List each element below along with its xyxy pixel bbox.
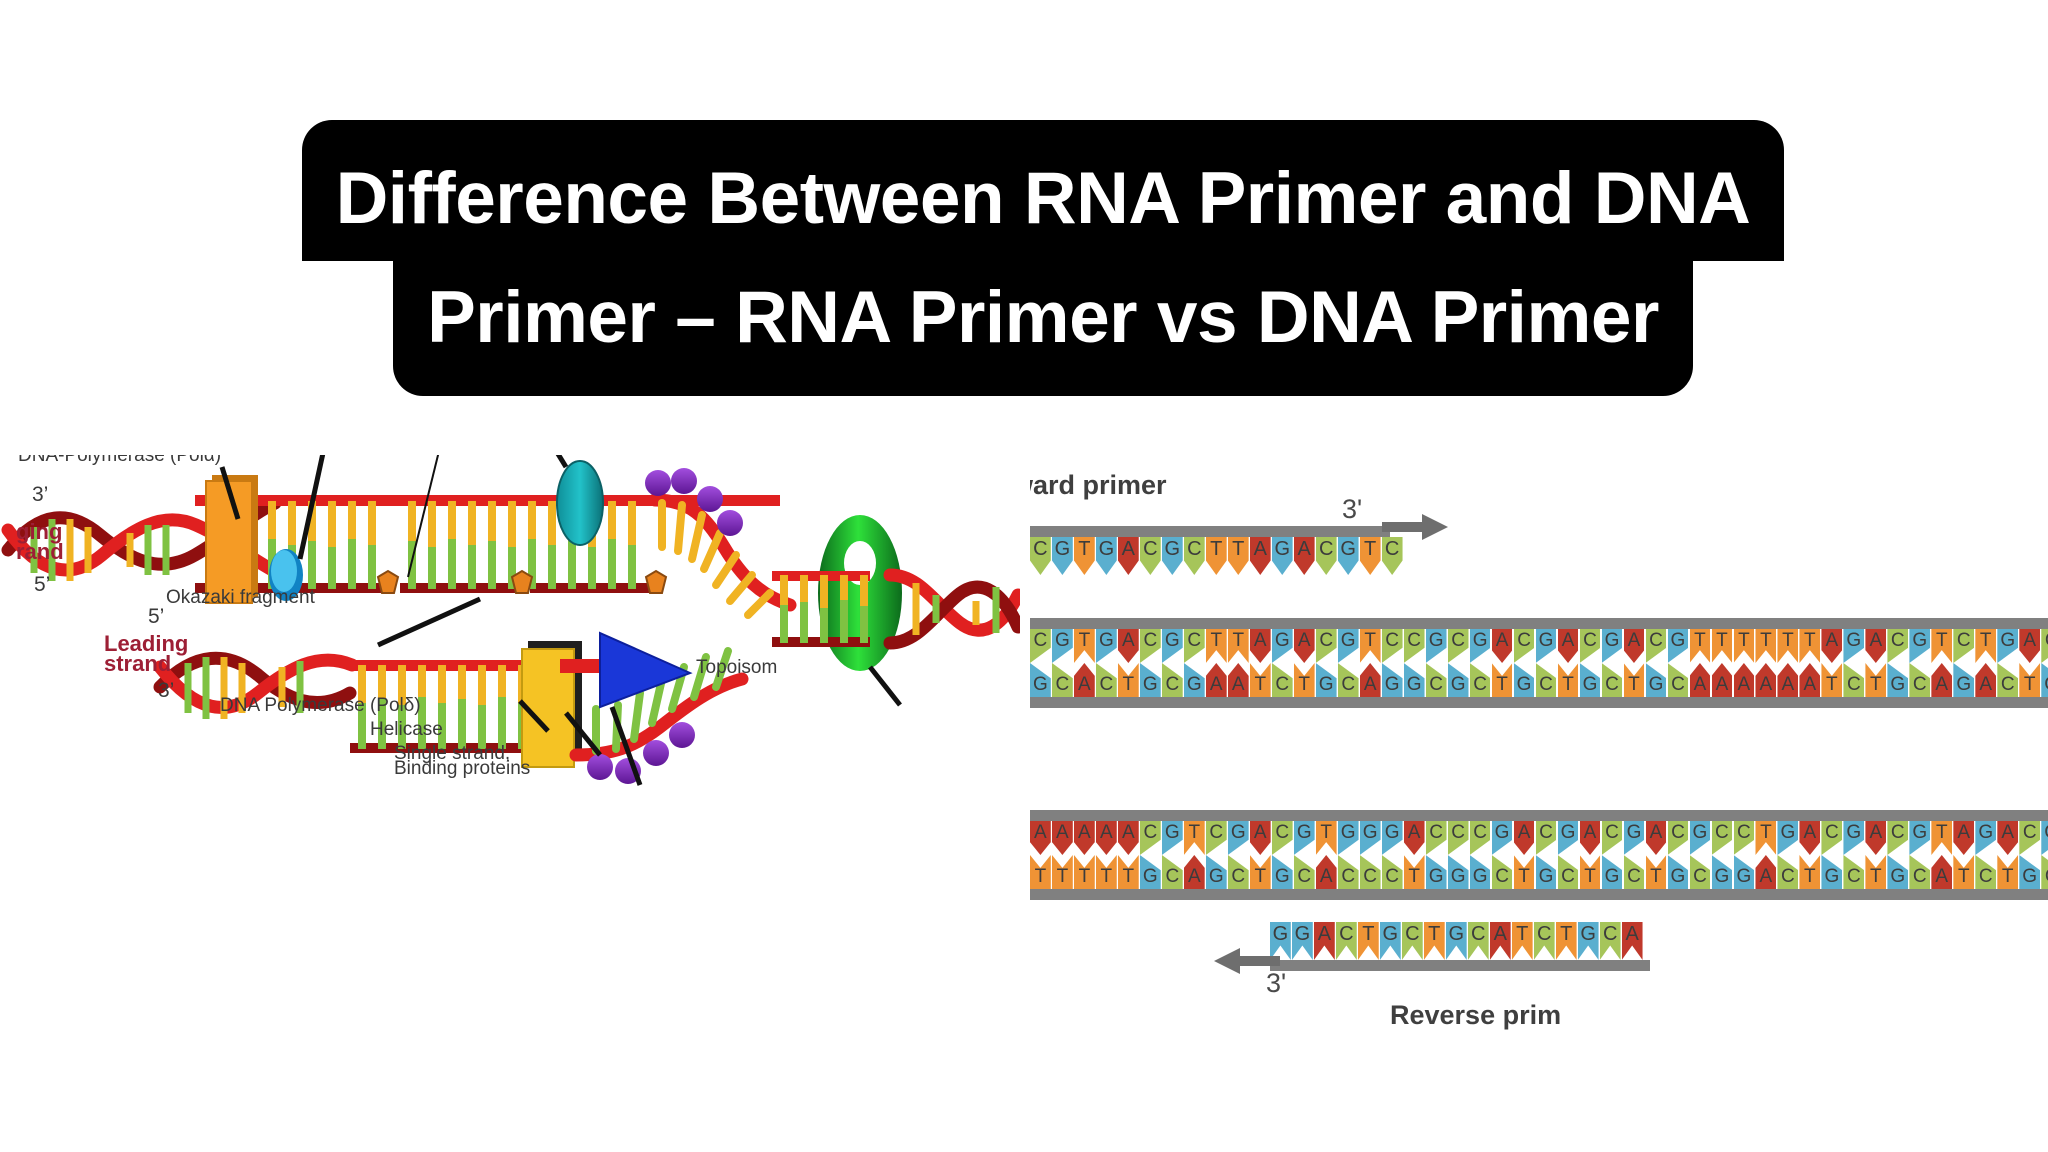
base-c: C xyxy=(1272,663,1293,697)
base-g: G xyxy=(1536,629,1557,663)
base-c: C xyxy=(1536,821,1557,855)
base-g: G xyxy=(1624,821,1645,855)
base-a: A xyxy=(1777,663,1798,697)
base-c: C xyxy=(1975,855,1996,889)
base-c: C xyxy=(1470,663,1491,697)
base-t: T xyxy=(1690,629,1711,663)
base-c: C xyxy=(2019,821,2040,855)
base-c: C xyxy=(1580,629,1601,663)
base-t: T xyxy=(1821,663,1842,697)
base-c: C xyxy=(1843,663,1864,697)
base-g: G xyxy=(1492,821,1513,855)
base-c: C xyxy=(1030,537,1051,575)
base-c: C xyxy=(1360,855,1381,889)
base-g: G xyxy=(1514,663,1535,697)
base-g: G xyxy=(1272,629,1293,663)
base-g: G xyxy=(1294,821,1315,855)
base-g: G xyxy=(1162,537,1183,575)
base-t: T xyxy=(1184,821,1205,855)
pcr-primer-panel: ward primer CGTGACGCTTAGACGTC 3' CGTGACG… xyxy=(1030,470,2048,1050)
base-a: A xyxy=(1865,821,1886,855)
base-c: C xyxy=(1843,855,1864,889)
template-duplex-1: CGTGACGCTTAGACGTCCGCGACGACGACGTTTTTTAGAC… xyxy=(1030,618,2048,708)
base-c: C xyxy=(1052,663,1073,697)
base-g: G xyxy=(1668,629,1689,663)
base-a: A xyxy=(1074,663,1095,697)
base-t: T xyxy=(1074,855,1095,889)
base-c: C xyxy=(1140,629,1161,663)
base-c: C xyxy=(1668,663,1689,697)
base-g: G xyxy=(1338,629,1359,663)
dna-replication-fork-figure: DNA-Polymerase (Polα) DNA-ligase RNA pri… xyxy=(0,455,1020,1045)
base-g: G xyxy=(1316,663,1337,697)
base-a: A xyxy=(1052,821,1073,855)
base-a: A xyxy=(1206,663,1227,697)
base-g: G xyxy=(1162,821,1183,855)
base-a: A xyxy=(1755,663,1776,697)
duplex-1-top-backbone xyxy=(1030,618,2048,629)
base-t: T xyxy=(1492,663,1513,697)
base-g: G xyxy=(1184,663,1205,697)
base-c: C xyxy=(1338,855,1359,889)
base-t: T xyxy=(1953,855,1974,889)
base-a: A xyxy=(1558,629,1579,663)
base-c: C xyxy=(1492,855,1513,889)
base-a: A xyxy=(1184,855,1205,889)
base-a: A xyxy=(1250,537,1271,575)
base-g: G xyxy=(1777,821,1798,855)
base-g: G xyxy=(1602,855,1623,889)
base-g: G xyxy=(1162,629,1183,663)
base-g: G xyxy=(1470,855,1491,889)
base-t: T xyxy=(2019,663,2040,697)
base-g: G xyxy=(1646,663,1667,697)
base-t: T xyxy=(1514,855,1535,889)
base-g: G xyxy=(1096,629,1117,663)
base-a: A xyxy=(1314,922,1335,960)
base-g: G xyxy=(1426,629,1447,663)
base-t: T xyxy=(1558,663,1579,697)
base-a: A xyxy=(1118,537,1139,575)
base-g: G xyxy=(1580,663,1601,697)
forward-primer-strand: CGTGACGCTTAGACGTC xyxy=(1030,526,1390,575)
base-g: G xyxy=(1446,922,1467,960)
base-t: T xyxy=(1118,663,1139,697)
base-g: G xyxy=(1426,855,1447,889)
base-t: T xyxy=(1052,855,1073,889)
base-t: T xyxy=(1424,922,1445,960)
base-g: G xyxy=(1360,821,1381,855)
base-a: A xyxy=(1931,855,1952,889)
base-t: T xyxy=(1646,855,1667,889)
label-dna-polymerase-delta: DNA Polymerase (Polδ) xyxy=(220,695,421,716)
base-g: G xyxy=(1558,821,1579,855)
base-t: T xyxy=(1228,629,1249,663)
base-t: T xyxy=(1206,537,1227,575)
page-title-line-2: Primer – RNA Primer vs DNA Primer xyxy=(393,259,1693,396)
base-c: C xyxy=(1909,855,1930,889)
base-t: T xyxy=(1316,821,1337,855)
forward-primer-3prime-label: 3' xyxy=(1342,494,1362,525)
base-g: G xyxy=(1470,629,1491,663)
base-a: A xyxy=(1646,821,1667,855)
base-c: C xyxy=(1646,629,1667,663)
base-a: A xyxy=(2019,629,2040,663)
base-c: C xyxy=(1184,629,1205,663)
base-t: T xyxy=(1512,922,1533,960)
base-t: T xyxy=(1755,821,1776,855)
base-c: C xyxy=(1162,855,1183,889)
base-c: C xyxy=(1272,821,1293,855)
base-a: A xyxy=(1250,821,1271,855)
base-a: A xyxy=(1799,821,1820,855)
base-c: C xyxy=(1316,629,1337,663)
base-g: G xyxy=(1712,855,1733,889)
base-t: T xyxy=(1799,855,1820,889)
base-c: C xyxy=(1777,855,1798,889)
base-g: G xyxy=(1272,855,1293,889)
base-t: T xyxy=(1755,629,1776,663)
base-a: A xyxy=(1712,663,1733,697)
base-g: G xyxy=(1536,855,1557,889)
label-prime-5-bottom: 5’ xyxy=(148,605,164,628)
base-c: C xyxy=(1470,821,1491,855)
base-t: T xyxy=(1030,855,1051,889)
base-g: G xyxy=(1272,537,1293,575)
base-c: C xyxy=(1909,663,1930,697)
base-c: C xyxy=(1448,821,1469,855)
base-c: C xyxy=(1336,922,1357,960)
base-g: G xyxy=(1843,821,1864,855)
base-g: G xyxy=(1909,821,1930,855)
base-c: C xyxy=(1206,821,1227,855)
base-t: T xyxy=(1360,537,1381,575)
replication-fork-upper xyxy=(645,468,790,615)
duplex-2-top-bases: AAAAACGTCGACGTGGGACCCGACGACGACGCCTGACGAC… xyxy=(1030,821,2048,855)
base-c: C xyxy=(2041,629,2048,663)
base-c: C xyxy=(1887,821,1908,855)
base-t: T xyxy=(1096,855,1117,889)
page-title-line-1: Difference Between RNA Primer and DNA xyxy=(302,120,1785,261)
base-c: C xyxy=(1600,922,1621,960)
base-g: G xyxy=(2041,821,2048,855)
reverse-direction-arrow xyxy=(1214,948,1284,974)
base-c: C xyxy=(1821,821,1842,855)
template-duplex-2: AAAAACGTCGACGTGGGACCCGACGACGACGCCTGACGAC… xyxy=(1030,810,2048,900)
base-c: C xyxy=(1426,663,1447,697)
base-c: C xyxy=(1624,855,1645,889)
base-t: T xyxy=(1931,821,1952,855)
base-g: G xyxy=(2019,855,2040,889)
reverse-primer-bases: GGACTGCTGCATCTGCA xyxy=(1270,922,1650,960)
base-a: A xyxy=(1492,629,1513,663)
base-g: G xyxy=(1448,663,1469,697)
label-ssb-line2: Binding proteins xyxy=(394,758,530,779)
base-a: A xyxy=(1228,663,1249,697)
base-t: T xyxy=(1580,855,1601,889)
base-c: C xyxy=(1690,855,1711,889)
reverse-primer-title: Reverse prim xyxy=(1390,1000,1561,1031)
base-g: G xyxy=(1953,663,1974,697)
base-t: T xyxy=(1404,855,1425,889)
base-g: G xyxy=(1578,922,1599,960)
base-a: A xyxy=(1953,821,1974,855)
base-g: G xyxy=(1690,821,1711,855)
base-a: A xyxy=(1250,629,1271,663)
base-g: G xyxy=(1338,821,1359,855)
base-a: A xyxy=(1074,821,1095,855)
base-g: G xyxy=(1909,629,1930,663)
base-t: T xyxy=(1118,855,1139,889)
base-c: C xyxy=(1668,821,1689,855)
base-t: T xyxy=(1777,629,1798,663)
base-c: C xyxy=(1448,629,1469,663)
base-c: C xyxy=(1096,663,1117,697)
base-c: C xyxy=(1997,663,2018,697)
reverse-primer-strand: GGACTGCTGCATCTGCA xyxy=(1270,922,1650,971)
label-lagging-strand-line2: rand xyxy=(16,539,64,564)
base-a: A xyxy=(1580,821,1601,855)
forward-primer-bases: CGTGACGCTTAGACGTC xyxy=(1030,537,1390,575)
base-g: G xyxy=(1821,855,1842,889)
duplex-2-bottom-backbone xyxy=(1030,889,2048,900)
base-c: C xyxy=(1734,821,1755,855)
base-g: G xyxy=(1668,855,1689,889)
label-prime-3-top: 3’ xyxy=(32,483,48,506)
label-okazaki-fragment: Okazaki fragment xyxy=(166,587,316,608)
base-a: A xyxy=(1931,663,1952,697)
base-c: C xyxy=(1162,663,1183,697)
base-t: T xyxy=(1074,629,1095,663)
base-t: T xyxy=(1799,629,1820,663)
duplex-1-top-bases: CGTGACGCTTAGACGTCCGCGACGACGACGTTTTTTAGAC… xyxy=(1030,629,2048,663)
base-t: T xyxy=(1712,629,1733,663)
base-c: C xyxy=(1534,922,1555,960)
base-g: G xyxy=(1338,537,1359,575)
duplex-2-top-backbone xyxy=(1030,810,2048,821)
base-c: C xyxy=(1338,663,1359,697)
base-a: A xyxy=(1294,629,1315,663)
base-a: A xyxy=(1316,855,1337,889)
base-t: T xyxy=(1865,855,1886,889)
base-t: T xyxy=(1228,537,1249,575)
base-g: G xyxy=(1030,663,1051,697)
base-c: C xyxy=(1382,629,1403,663)
page-title-banner: Difference Between RNA Primer and DNA Pr… xyxy=(148,120,1938,396)
base-c: C xyxy=(2041,855,2048,889)
base-t: T xyxy=(1360,629,1381,663)
base-c: C xyxy=(1712,821,1733,855)
duplex-1-bottom-backbone xyxy=(1030,697,2048,708)
base-a: A xyxy=(1622,922,1643,960)
base-a: A xyxy=(1690,663,1711,697)
base-g: G xyxy=(1404,663,1425,697)
base-g: G xyxy=(1975,821,1996,855)
base-a: A xyxy=(1514,821,1535,855)
base-c: C xyxy=(1140,821,1161,855)
base-a: A xyxy=(1734,663,1755,697)
base-t: T xyxy=(1250,663,1271,697)
forward-primer-backbone xyxy=(1030,526,1390,537)
base-g: G xyxy=(1382,663,1403,697)
base-c: C xyxy=(1404,629,1425,663)
base-t: T xyxy=(1358,922,1379,960)
base-a: A xyxy=(1755,855,1776,889)
base-a: A xyxy=(1118,821,1139,855)
base-c: C xyxy=(1536,663,1557,697)
base-a: A xyxy=(1865,629,1886,663)
base-g: G xyxy=(1052,537,1073,575)
base-t: T xyxy=(1624,663,1645,697)
forward-primer-title: ward primer xyxy=(1030,470,1167,501)
base-c: C xyxy=(1468,922,1489,960)
base-g: G xyxy=(1292,922,1313,960)
duplex-1-bottom-bases: GCACTGCGAATCTGCAGGCGCTGCTGCTGCAAAAAATCTG… xyxy=(1030,663,2048,697)
base-c: C xyxy=(1228,855,1249,889)
base-c: C xyxy=(1426,821,1447,855)
base-g: G xyxy=(1843,629,1864,663)
base-a: A xyxy=(1997,821,2018,855)
base-c: C xyxy=(1402,922,1423,960)
duplex-2-bottom-bases: TTTTTGCAGCTGCACCCTGGGCTGCTGCTGCGGACTGCTG… xyxy=(1030,855,2048,889)
reverse-primer-backbone xyxy=(1270,960,1650,971)
label-prime-5-top: 5’ xyxy=(34,573,50,596)
base-g: G xyxy=(1096,537,1117,575)
base-t: T xyxy=(1865,663,1886,697)
base-t: T xyxy=(1997,855,2018,889)
base-t: T xyxy=(1206,629,1227,663)
base-a: A xyxy=(1360,663,1381,697)
base-g: G xyxy=(1997,629,2018,663)
base-t: T xyxy=(1556,922,1577,960)
base-g: G xyxy=(1734,855,1755,889)
base-g: G xyxy=(1228,821,1249,855)
base-a: A xyxy=(1490,922,1511,960)
base-c: C xyxy=(1382,537,1403,575)
base-g: G xyxy=(1887,663,1908,697)
base-g: G xyxy=(1887,855,1908,889)
base-c: C xyxy=(1602,663,1623,697)
base-g: G xyxy=(1602,629,1623,663)
base-t: T xyxy=(1931,629,1952,663)
base-t: T xyxy=(1734,629,1755,663)
base-a: A xyxy=(1799,663,1820,697)
base-g: G xyxy=(1382,821,1403,855)
base-a: A xyxy=(1624,629,1645,663)
base-g: G xyxy=(1140,855,1161,889)
base-c: C xyxy=(1030,629,1051,663)
base-a: A xyxy=(1975,663,1996,697)
base-c: C xyxy=(1514,629,1535,663)
base-a: A xyxy=(1096,821,1117,855)
base-c: C xyxy=(1558,855,1579,889)
base-g: G xyxy=(1448,855,1469,889)
base-c: C xyxy=(1953,629,1974,663)
base-c: C xyxy=(1316,537,1337,575)
base-a: A xyxy=(1030,821,1051,855)
base-c: C xyxy=(1887,629,1908,663)
label-dna-polymerase-alpha: DNA-Polymerase (Polα) xyxy=(18,455,221,466)
base-c: C xyxy=(1602,821,1623,855)
base-g: G xyxy=(1380,922,1401,960)
label-topoisomerase: Topoisom xyxy=(696,657,777,678)
label-leading-strand-line2: strand xyxy=(104,651,171,676)
base-t: T xyxy=(1074,537,1095,575)
base-g: G xyxy=(2041,663,2048,697)
base-a: A xyxy=(1821,629,1842,663)
base-t: T xyxy=(1294,663,1315,697)
label-prime-3-bottom: 3’ xyxy=(158,679,174,702)
base-t: T xyxy=(1250,855,1271,889)
forward-direction-arrow xyxy=(1382,514,1452,540)
base-c: C xyxy=(1184,537,1205,575)
base-g: G xyxy=(1140,663,1161,697)
base-g: G xyxy=(1052,629,1073,663)
dna-primase-shape xyxy=(557,461,603,545)
base-a: A xyxy=(1294,537,1315,575)
base-a: A xyxy=(1118,629,1139,663)
label-helicase: Helicase xyxy=(370,719,443,740)
base-t: T xyxy=(1975,629,1996,663)
base-c: C xyxy=(1294,855,1315,889)
base-c: C xyxy=(1140,537,1161,575)
base-g: G xyxy=(1206,855,1227,889)
base-c: C xyxy=(1382,855,1403,889)
base-a: A xyxy=(1404,821,1425,855)
